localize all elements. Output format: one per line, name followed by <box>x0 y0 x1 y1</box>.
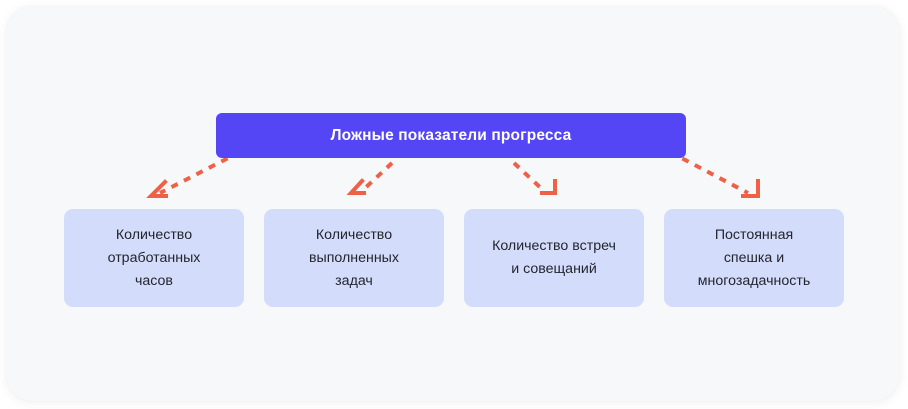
child-node-4[interactable]: Постоянная спешка и многозадачность <box>664 209 844 307</box>
child-node-1-label: Количество отработанных часов <box>108 224 201 293</box>
diagram-canvas: Ложные показатели прогресса Количество о… <box>0 0 908 409</box>
root-node[interactable]: Ложные показатели прогресса <box>216 113 686 158</box>
child-node-2[interactable]: Количество выполненных задач <box>264 209 444 307</box>
child-node-1[interactable]: Количество отработанных часов <box>64 209 244 307</box>
child-node-3[interactable]: Количество встреч и совещаний <box>464 209 644 307</box>
child-node-4-label: Постоянная спешка и многозадачность <box>698 224 810 293</box>
root-node-label: Ложные показатели прогресса <box>331 127 572 145</box>
child-node-2-label: Количество выполненных задач <box>309 224 399 293</box>
diagram-card <box>6 6 900 401</box>
child-node-3-label: Количество встреч и совещаний <box>492 235 616 281</box>
